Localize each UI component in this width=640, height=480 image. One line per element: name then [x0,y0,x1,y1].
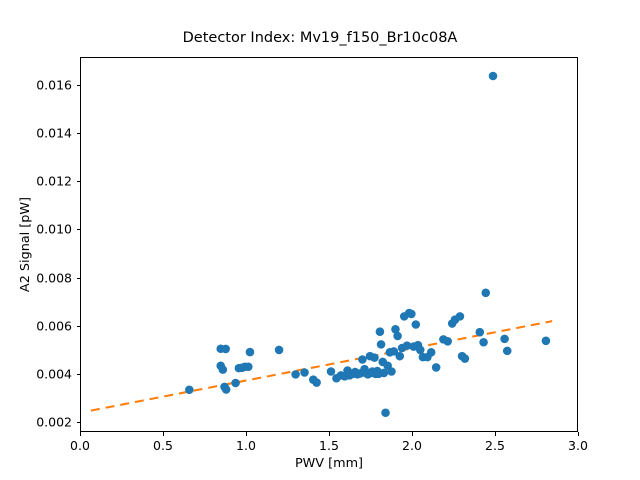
y-tick-mark [77,229,81,230]
scatter-point [370,353,379,362]
x-tick-mark [495,432,496,436]
scatter-point [479,338,488,347]
x-tick-label: 1.5 [319,438,339,453]
scatter-point [244,362,253,371]
scatter-point [393,332,402,341]
matplotlib-figure: Detector Index: Mv19_f150_Br10c08A 0.00.… [0,0,640,480]
scatter-point [542,337,551,346]
y-axis-label: A2 Signal [pW] [18,57,38,432]
x-tick-label: 3.0 [568,438,588,453]
x-tick-label: 2.0 [402,438,422,453]
scatter-point [246,348,255,357]
x-tick-mark [412,432,413,436]
scatter-point [185,385,194,394]
y-tick-mark [77,181,81,182]
y-tick-mark [77,278,81,279]
scatter-point [300,368,309,377]
scatter-point [275,346,284,355]
y-tick-mark [77,374,81,375]
scatter-point [412,320,421,329]
scatter-point [221,345,230,354]
scatter-point [432,363,441,372]
x-tick-mark [80,432,81,436]
scatter-point [443,337,452,346]
scatter-point [395,352,404,361]
scatter-point [481,289,490,298]
scatter-point [475,328,484,337]
scatter-point [291,370,300,379]
scatter-point [503,347,512,356]
scatter-point [219,365,228,374]
scatter-point [381,408,390,417]
scatter-point [376,327,385,336]
scatter-point [377,340,386,349]
scatter-point [312,378,321,387]
page-title: Detector Index: Mv19_f150_Br10c08A [0,30,640,46]
scatter-point [327,367,336,376]
scatter-point [407,310,416,319]
x-axis-label: PWV [mm] [80,456,578,471]
x-tick-label: 0.5 [153,438,173,453]
scatter-point [387,367,396,376]
scatter-point [500,335,509,344]
x-tick-label: 0.0 [70,438,90,453]
scatter-point [489,72,498,81]
x-tick-mark [163,432,164,436]
scatter-point [222,385,231,394]
scatter-point [358,355,367,364]
scatter-point [231,379,240,388]
scatter-markers [185,72,550,417]
plot-axes-frame [80,57,578,432]
x-tick-mark [578,432,579,436]
y-tick-mark [77,326,81,327]
scatter-point [461,354,470,363]
y-tick-mark [77,422,81,423]
x-tick-mark [329,432,330,436]
x-tick-label: 1.0 [236,438,256,453]
x-tick-mark [246,432,247,436]
y-tick-mark [77,85,81,86]
y-tick-mark [77,133,81,134]
scatter-point [456,312,465,321]
x-tick-label: 2.5 [485,438,505,453]
scatter-point [427,348,436,357]
plot-canvas [81,58,577,431]
